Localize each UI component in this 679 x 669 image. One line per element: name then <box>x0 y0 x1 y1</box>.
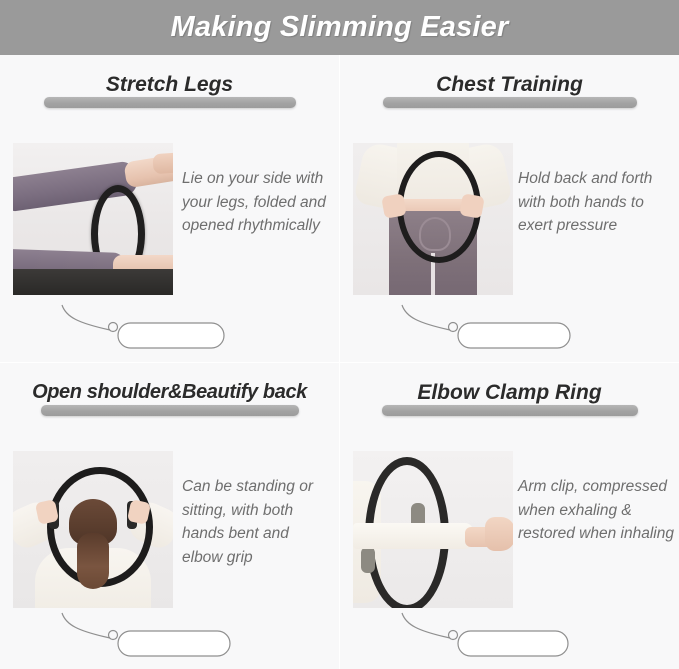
panel-description: Can be standing or sitting, with both ha… <box>182 475 332 569</box>
panel-description: Hold back and forth with both hands to e… <box>518 167 674 238</box>
exercise-photo-open-shoulder <box>13 451 173 608</box>
panel-title-group: Stretch Legs <box>0 73 339 119</box>
panel-title: Stretch Legs <box>0 73 339 97</box>
callout-bubble-group: Hands clasped <box>340 611 679 661</box>
panel-title: Elbow Clamp Ring <box>340 381 679 405</box>
callout-bubble-shape <box>0 611 339 661</box>
exercise-photo-stretch-legs <box>13 143 173 295</box>
page-title: Making Slimming Easier <box>171 11 509 44</box>
title-underline-bar <box>382 405 638 416</box>
callout-bubble-group: Soothes cellulite <box>340 303 679 353</box>
panel-stretch-legs: Stretch Legs Lie on your side with your … <box>0 55 339 362</box>
panel-title: Open shoulder&Beautify back <box>0 381 339 404</box>
title-underline-bar <box>41 405 299 416</box>
panel-title-group: Open shoulder&Beautify back <box>0 381 339 427</box>
exercise-photo-chest-training <box>353 143 513 295</box>
callout-bubble-shape <box>0 303 339 353</box>
panel-title-group: Elbow Clamp Ring <box>340 381 679 427</box>
panel-grid: Stretch Legs Lie on your side with your … <box>0 55 679 669</box>
panel-title-group: Chest Training <box>340 73 679 119</box>
title-underline-bar <box>44 97 296 108</box>
panel-open-shoulder: Open shoulder&Beautify back Can <box>0 363 339 669</box>
callout-bubble-group: Straighten waist <box>0 611 339 661</box>
callout-bubble-shape <box>340 303 679 353</box>
panel-elbow-clamp-ring: Elbow Clamp Ring Arm clip, compressed wh… <box>340 363 679 669</box>
callout-bubble-group: Calf exertion <box>0 303 339 353</box>
panel-chest-training: Chest Training Hold back and for <box>340 55 679 362</box>
panel-description: Lie on your side with your legs, folded … <box>182 167 332 238</box>
callout-bubble-shape <box>340 611 679 661</box>
header-banner: Making Slimming Easier <box>0 0 679 55</box>
exercise-photo-elbow-clamp-ring <box>353 451 513 608</box>
product-infographic: Making Slimming Easier Stretch Legs <box>0 0 679 669</box>
panel-description: Arm clip, compressed when exhaling & res… <box>518 475 674 546</box>
title-underline-bar <box>383 97 637 108</box>
panel-title: Chest Training <box>340 73 679 97</box>
